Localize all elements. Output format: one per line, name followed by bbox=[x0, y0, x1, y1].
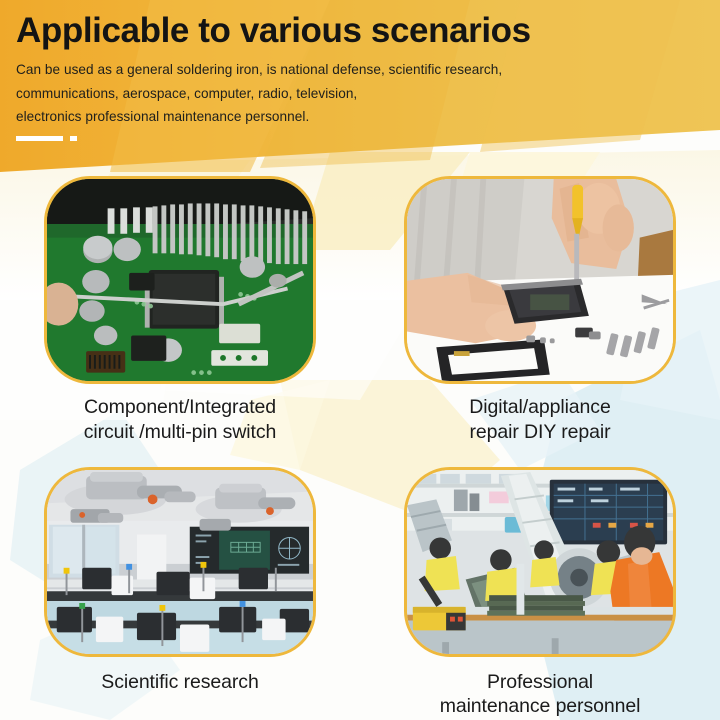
caption-line-2: circuit /multi-pin switch bbox=[84, 420, 277, 445]
scenario-cell-3: Scientific research bbox=[0, 467, 360, 720]
scenario-card-1[interactable] bbox=[44, 176, 316, 384]
scenario-row-2: Scientific research bbox=[0, 467, 720, 720]
scenario-caption-3: Scientific research bbox=[101, 670, 258, 695]
subtitle-line-2: communications, aerospace, computer, rad… bbox=[16, 82, 702, 105]
scenario-caption-1: Component/Integrated circuit /multi-pin … bbox=[84, 395, 277, 445]
dash-long-icon bbox=[16, 136, 63, 141]
scenario-caption-4: Professional maintenance personnel bbox=[440, 670, 641, 720]
caption-line-1: Scientific research bbox=[101, 670, 258, 695]
promo-page: Applicable to various scenarios Can be u… bbox=[0, 0, 720, 720]
dash-short-icon bbox=[70, 136, 77, 141]
circuit-board-soldering-photo bbox=[47, 179, 313, 382]
page-title: Applicable to various scenarios bbox=[16, 10, 702, 51]
scenario-card-3[interactable] bbox=[44, 467, 316, 657]
caption-line-2: maintenance personnel bbox=[440, 694, 641, 719]
decorative-dashes bbox=[16, 136, 77, 141]
scenario-cell-4: Professional maintenance personnel bbox=[360, 467, 720, 720]
scenario-cell-1: Component/Integrated circuit /multi-pin … bbox=[0, 176, 360, 445]
factory-production-line-photo bbox=[407, 470, 673, 656]
laboratory-classroom-photo bbox=[47, 470, 313, 656]
caption-line-1: Component/Integrated bbox=[84, 395, 277, 420]
subtitle-line-1: Can be used as a general soldering iron,… bbox=[16, 58, 702, 81]
scenario-card-2[interactable] bbox=[404, 176, 676, 384]
scenario-caption-2: Digital/appliance repair DIY repair bbox=[469, 395, 610, 445]
page-subtitle: Can be used as a general soldering iron,… bbox=[16, 58, 702, 128]
scenario-grid: Component/Integrated circuit /multi-pin … bbox=[0, 176, 720, 719]
scenario-card-4[interactable] bbox=[404, 467, 676, 657]
subtitle-line-3: electronics professional maintenance per… bbox=[16, 105, 702, 128]
header-banner: Applicable to various scenarios Can be u… bbox=[0, 0, 720, 175]
scenario-cell-2: Digital/appliance repair DIY repair bbox=[360, 176, 720, 445]
phone-repair-screwdriver-photo bbox=[407, 179, 673, 382]
scenario-row-1: Component/Integrated circuit /multi-pin … bbox=[0, 176, 720, 445]
caption-line-1: Digital/appliance bbox=[469, 395, 610, 420]
caption-line-1: Professional bbox=[440, 670, 641, 695]
caption-line-2: repair DIY repair bbox=[469, 420, 610, 445]
